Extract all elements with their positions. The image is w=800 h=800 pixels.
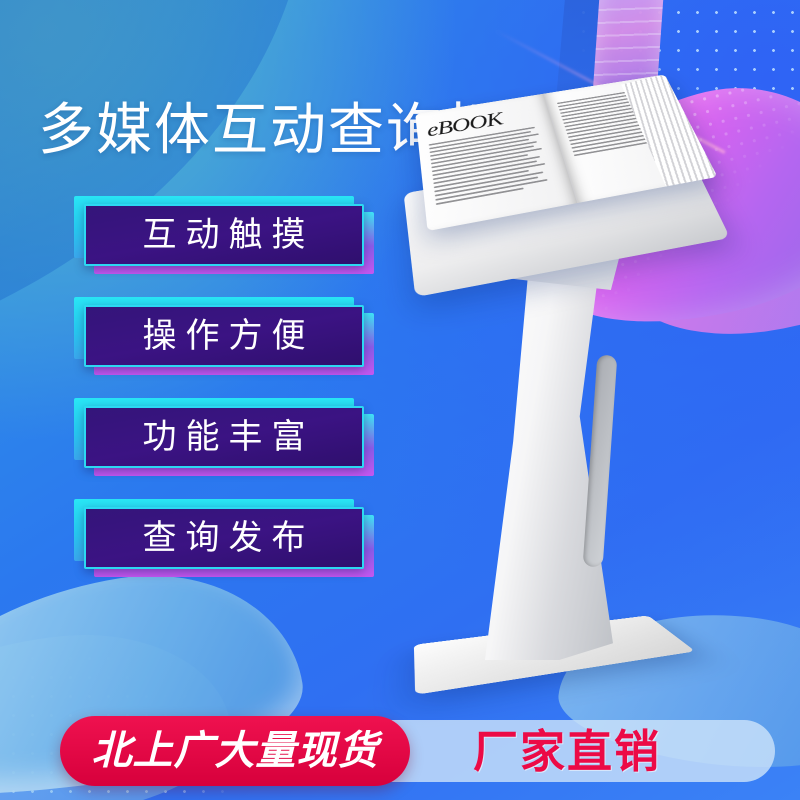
feature-badge-list: 互动触摸 操作方便 功能丰富 查询发布 [84,204,364,608]
feature-badge-label: 功能丰富 [134,420,315,454]
stock-label: 北上广大量现货 [92,731,379,771]
feature-badge: 功能丰富 [84,406,364,468]
kiosk-column-groove [583,355,618,568]
feature-badge: 互动触摸 [84,204,364,266]
feature-badge: 操作方便 [84,305,364,367]
feature-badge-label: 互动触摸 [134,218,315,252]
badge-face: 功能丰富 [84,406,364,468]
stock-pill: 北上广大量现货 [60,716,410,786]
poster-canvas: 多媒体互动查询机 互动触摸 操作方便 功能丰富 [0,0,800,800]
badge-face: 查询发布 [84,507,364,569]
badge-face: 操作方便 [84,305,364,367]
promo-banner: 厂家直销 北上广大量现货 [0,708,800,800]
feature-badge-label: 操作方便 [134,319,315,353]
badge-face: 互动触摸 [84,204,364,266]
feature-badge-label: 查询发布 [134,521,315,555]
product-kiosk: eBOOK [400,55,780,705]
feature-badge: 查询发布 [84,507,364,569]
